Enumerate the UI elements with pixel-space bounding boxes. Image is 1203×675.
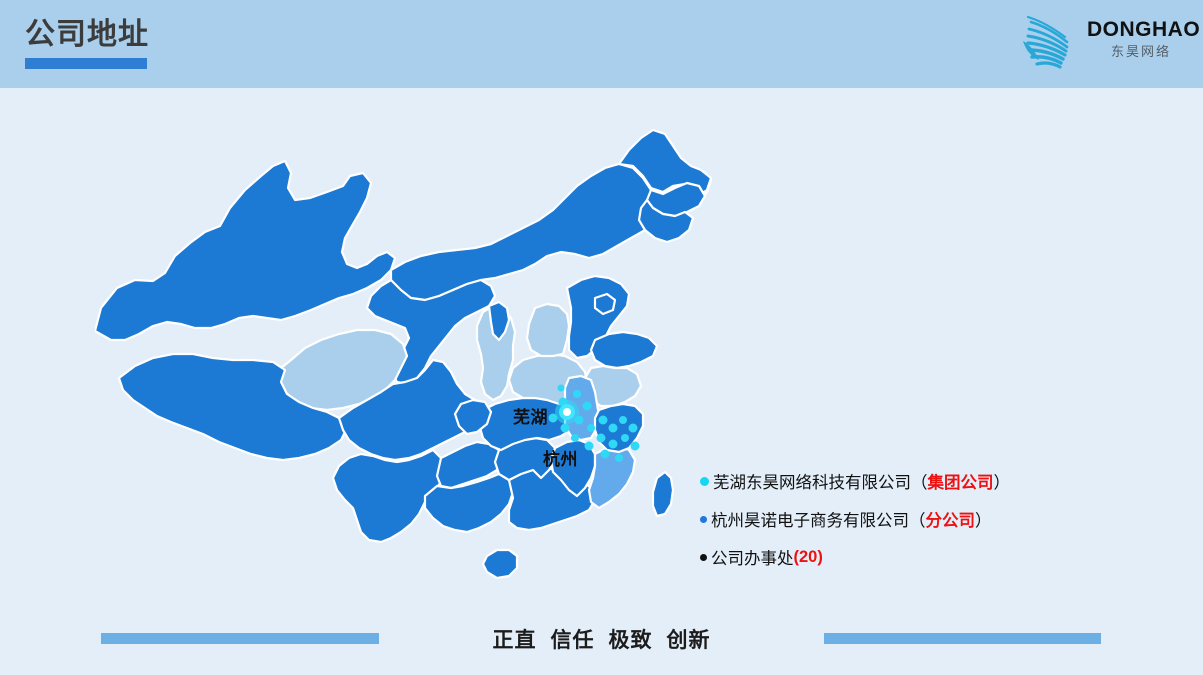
legend-bullet-cyan bbox=[700, 477, 709, 486]
province-beijing bbox=[595, 294, 615, 314]
page-title: 公司地址 bbox=[25, 17, 149, 53]
legend-close-paren-0: ） bbox=[994, 469, 1011, 493]
headquarters-marker bbox=[555, 400, 579, 424]
legend-open-paren-0: （ bbox=[911, 469, 928, 493]
legend-tag-branch-company: 分公司 bbox=[926, 507, 976, 531]
legend-close-paren-1: ） bbox=[975, 507, 992, 531]
province-xinjiang bbox=[95, 161, 395, 340]
legend-label-group-company: 芜湖东昊网络科技有限公司 bbox=[713, 469, 911, 493]
legend-tag-group-company: 集团公司 bbox=[928, 469, 994, 493]
brand-logo: DONGHAO 东昊网络 bbox=[1015, 6, 1195, 78]
footer-slogan: 正直信任极致创新 bbox=[0, 624, 1203, 654]
legend-bullet-black bbox=[700, 554, 707, 561]
legend-item-offices: 公司办事处 (20) bbox=[700, 538, 1120, 576]
logo-subtitle: 东昊网络 bbox=[1087, 43, 1195, 61]
province-shanxi bbox=[527, 304, 569, 356]
legend-bullet-blue bbox=[700, 516, 707, 523]
legend-item-branch-company: 杭州昊诺电子商务有限公司 （ 分公司 ） bbox=[700, 500, 1120, 538]
slogan-word-3: 极致 bbox=[609, 629, 653, 652]
page-header: 公司地址 DONGHAO 东昊网络 bbox=[0, 0, 1203, 88]
logo-name: DONGHAO bbox=[1087, 18, 1195, 42]
donghao-wing-logo-icon bbox=[1015, 8, 1087, 76]
legend-tag-office-count: (20) bbox=[794, 548, 823, 567]
province-fujian bbox=[589, 446, 635, 508]
slogan-word-2: 信任 bbox=[551, 629, 595, 652]
title-underline-bar bbox=[25, 58, 147, 69]
china-map-svg bbox=[95, 128, 715, 603]
legend-item-group-company: 芜湖东昊网络科技有限公司 （ 集团公司 ） bbox=[700, 462, 1120, 500]
location-legend: 芜湖东昊网络科技有限公司 （ 集团公司 ） 杭州昊诺电子商务有限公司 （ 分公司… bbox=[700, 462, 1120, 576]
province-taiwan bbox=[653, 472, 673, 516]
legend-open-paren-1: （ bbox=[909, 507, 926, 531]
map-label-wuhu: 芜湖 bbox=[513, 403, 548, 428]
slogan-word-1: 正直 bbox=[493, 629, 537, 652]
province-hainan bbox=[483, 550, 517, 578]
legend-label-offices: 公司办事处 bbox=[711, 545, 794, 569]
legend-label-branch-company: 杭州昊诺电子商务有限公司 bbox=[711, 507, 909, 531]
china-map: 芜湖 杭州 bbox=[95, 128, 715, 603]
map-label-hangzhou: 杭州 bbox=[543, 445, 578, 470]
logo-wordmark: DONGHAO 东昊网络 bbox=[1087, 18, 1195, 61]
province-shandong bbox=[591, 332, 657, 368]
slogan-word-4: 创新 bbox=[667, 629, 711, 652]
